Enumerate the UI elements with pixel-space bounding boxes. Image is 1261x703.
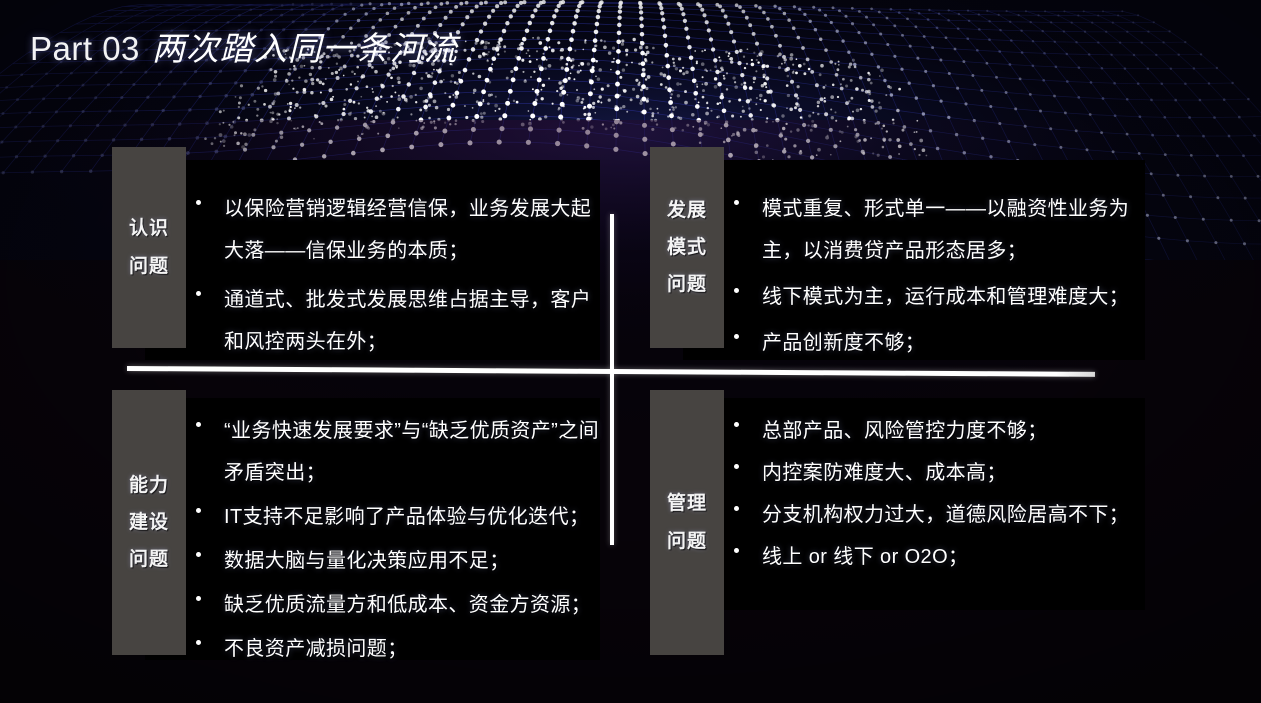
bullet-dot-icon	[734, 200, 739, 205]
title-part-number: Part 03	[30, 30, 140, 67]
bullet-list-q4: 总部产品、风险管控力度不够； 内控案防难度大、成本高； 分支机构权力过大，道德风…	[728, 410, 1148, 578]
title-chinese: 两次踏入同一条河流	[152, 30, 458, 67]
bullet-dot-icon	[734, 506, 739, 511]
slide-title: Part 03两次踏入同一条河流	[30, 22, 458, 70]
bullet-item: 通道式、批发式发展思维占据主导，客户和风控两头在外；	[190, 279, 600, 363]
bullet-item: 内控案防难度大、成本高；	[728, 452, 1148, 494]
bullet-list-q2: 模式重复、形式单一——以融资性业务为主，以消费贷产品形态居多； 线下模式为主，运…	[728, 188, 1148, 368]
bullet-dot-icon	[734, 422, 739, 427]
bullet-list-q3: “业务快速发展要求”与“缺乏优质资产”之间矛盾突出； IT支持不足影响了产品体验…	[190, 410, 602, 672]
bullet-text: 线下模式为主，运行成本和管理难度大；	[762, 276, 1148, 318]
bullet-dot-icon	[196, 552, 201, 557]
bullet-text: 线上 or 线下 or O2O；	[762, 536, 1148, 578]
bullet-dot-icon	[196, 422, 201, 427]
quadrant-label-line: 能力	[129, 467, 169, 504]
bullet-item: 分支机构权力过大，道德风险居高不下；	[728, 494, 1148, 536]
bullet-dot-icon	[196, 200, 201, 205]
bullet-dot-icon	[196, 508, 201, 513]
slide-canvas: Part 03两次踏入同一条河流 认识 问题 发展 模式 问题 能力 建设 问题…	[0, 0, 1261, 703]
bullet-dot-icon	[196, 596, 201, 601]
quadrant-label-line: 管理	[667, 485, 707, 522]
bullet-list-q1: 以保险营销逻辑经营信保，业务发展大起大落——信保业务的本质； 通道式、批发式发展…	[190, 188, 600, 370]
bullet-item: 以保险营销逻辑经营信保，业务发展大起大落——信保业务的本质；	[190, 188, 600, 272]
bullet-item: IT支持不足影响了产品体验与优化迭代；	[190, 496, 602, 538]
bullet-dot-icon	[734, 334, 739, 339]
bullet-text: 缺乏优质流量方和低成本、资金方资源；	[224, 584, 602, 626]
bullet-item: 模式重复、形式单一——以融资性业务为主，以消费贷产品形态居多；	[728, 188, 1148, 272]
bullet-text: 分支机构权力过大，道德风险居高不下；	[762, 494, 1148, 536]
bullet-text: 模式重复、形式单一——以融资性业务为主，以消费贷产品形态居多；	[762, 188, 1148, 272]
bullet-text: 内控案防难度大、成本高；	[762, 452, 1148, 494]
bullet-dot-icon	[734, 464, 739, 469]
bullet-item: “业务快速发展要求”与“缺乏优质资产”之间矛盾突出；	[190, 410, 602, 494]
bullet-text: 不良资产减损问题；	[224, 628, 602, 670]
quadrant-label-line: 发展	[667, 192, 707, 229]
bullet-item: 线下模式为主，运行成本和管理难度大；	[728, 276, 1148, 318]
bullet-item: 线上 or 线下 or O2O；	[728, 536, 1148, 578]
bullet-text: “业务快速发展要求”与“缺乏优质资产”之间矛盾突出；	[224, 410, 602, 494]
bullet-item: 数据大脑与量化决策应用不足；	[190, 540, 602, 582]
bullet-text: 产品创新度不够；	[762, 322, 1148, 364]
quadrant-label-line: 认识	[129, 210, 169, 247]
quadrant-label-line: 问题	[667, 266, 707, 303]
quadrant-label-line: 模式	[667, 229, 707, 266]
quadrant-label-q1[interactable]: 认识 问题	[112, 147, 186, 348]
bullet-item: 缺乏优质流量方和低成本、资金方资源；	[190, 584, 602, 626]
bullet-text: 通道式、批发式发展思维占据主导，客户和风控两头在外；	[224, 279, 600, 363]
quadrant-label-line: 建设	[129, 504, 169, 541]
quadrant-label-line: 问题	[129, 248, 169, 285]
bullet-text: 总部产品、风险管控力度不够；	[762, 410, 1148, 452]
quadrant-label-line: 问题	[667, 523, 707, 560]
bullet-dot-icon	[734, 288, 739, 293]
bullet-dot-icon	[196, 291, 201, 296]
bullet-item: 不良资产减损问题；	[190, 628, 602, 670]
quadrant-label-line: 问题	[129, 541, 169, 578]
bullet-text: 数据大脑与量化决策应用不足；	[224, 540, 602, 582]
quadrant-label-q3[interactable]: 能力 建设 问题	[112, 390, 186, 655]
bullet-item: 产品创新度不够；	[728, 322, 1148, 364]
bullet-text: 以保险营销逻辑经营信保，业务发展大起大落——信保业务的本质；	[224, 188, 600, 272]
bullet-dot-icon	[196, 640, 201, 645]
quadrant-label-q4[interactable]: 管理 问题	[650, 390, 724, 655]
bullet-text: IT支持不足影响了产品体验与优化迭代；	[224, 496, 602, 538]
bullet-dot-icon	[734, 548, 739, 553]
vertical-divider	[610, 214, 614, 545]
bullet-item: 总部产品、风险管控力度不够；	[728, 410, 1148, 452]
quadrant-label-q2[interactable]: 发展 模式 问题	[650, 147, 724, 348]
